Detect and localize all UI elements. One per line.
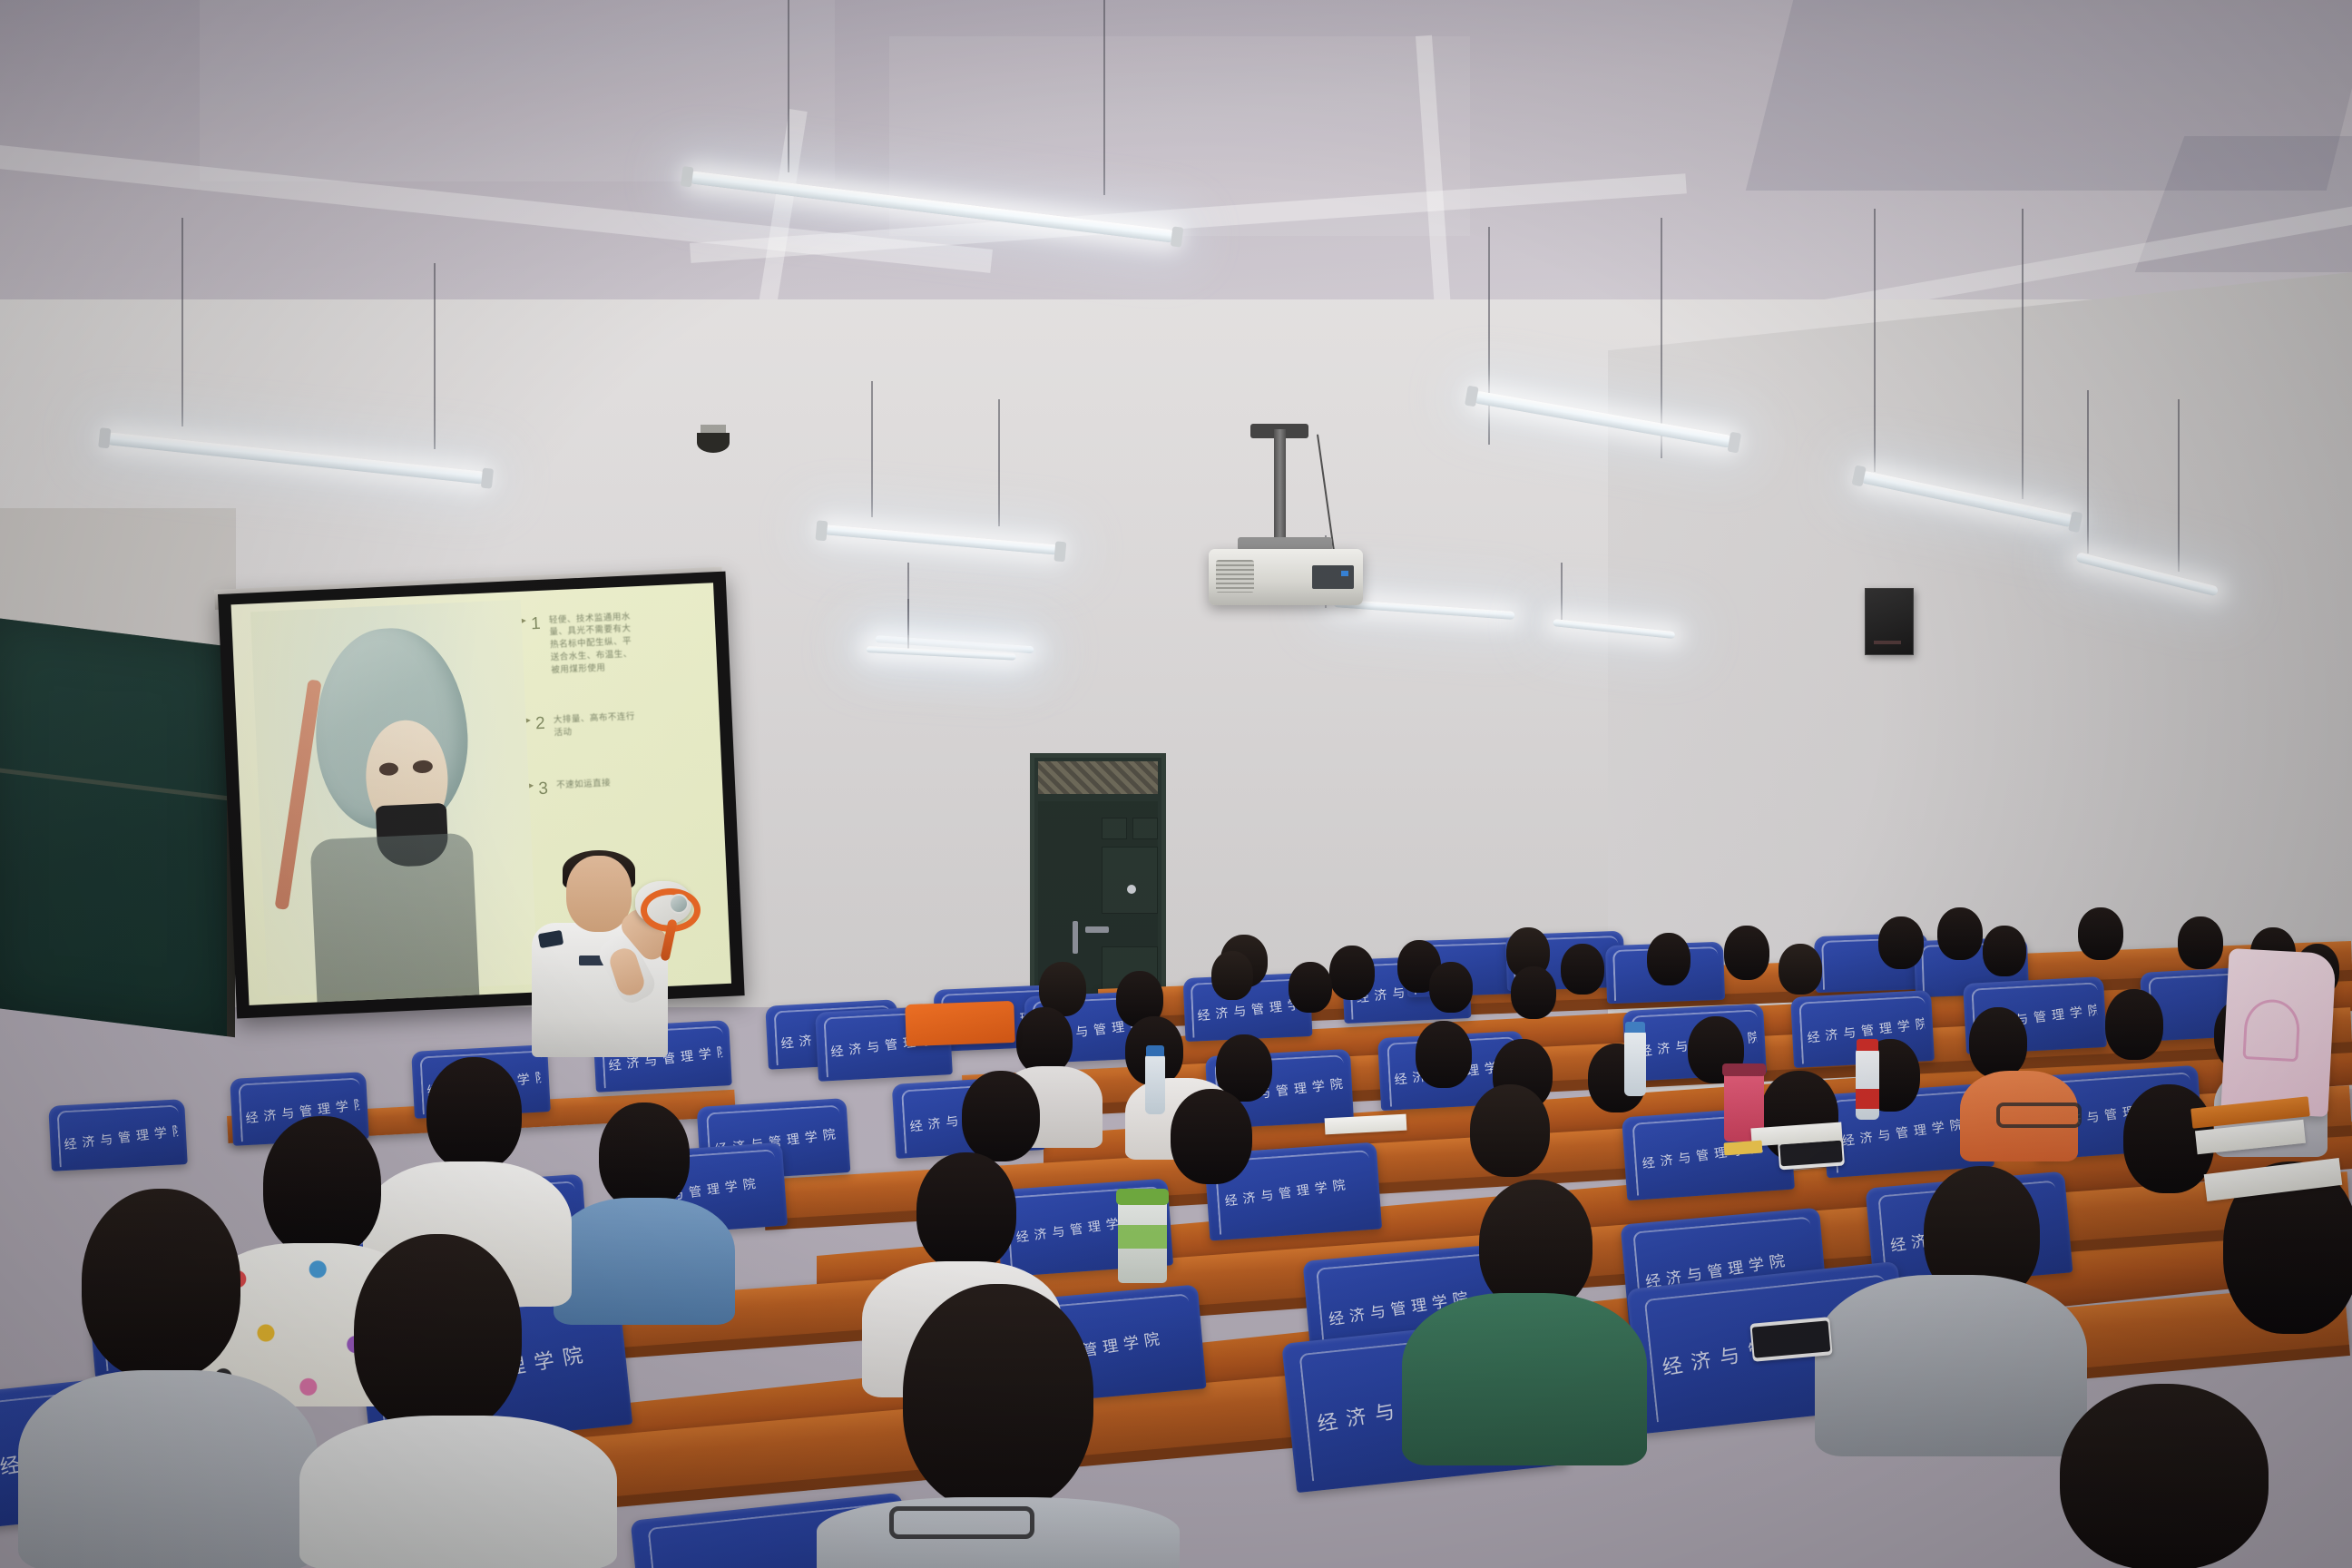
door-transom-window [1038, 761, 1158, 794]
audience-head [1416, 1021, 1472, 1088]
slide-torso [309, 833, 479, 1002]
audience-head [1561, 944, 1604, 995]
audience-head [2178, 916, 2223, 969]
projector-ports [1312, 565, 1354, 589]
audience-head [1470, 1084, 1550, 1177]
door-lock-plate-icon [1073, 921, 1078, 954]
audience-head [2105, 989, 2163, 1060]
mask-lens-icon [669, 894, 689, 914]
audience-head [82, 1189, 240, 1379]
seat-label: 经济与管理学院 [1223, 1172, 1369, 1210]
audience-torso [18, 1370, 318, 1568]
audience-head [2060, 1384, 2269, 1568]
audience-head [263, 1116, 381, 1257]
audience-head [1779, 944, 1822, 995]
projector-vent [1216, 560, 1254, 593]
audience-head [1211, 951, 1253, 1000]
bullet-text: 不速如运直接 [556, 777, 612, 791]
bullet-number: 3 [538, 779, 553, 798]
seat-label: 经济与管理学院 [1196, 995, 1304, 1024]
audience-torso [299, 1416, 617, 1568]
audience-head [1724, 926, 1769, 980]
audience-head [426, 1057, 522, 1171]
audience-head [1329, 946, 1375, 1000]
slide-bullet-item: ▸ 3 不速如运直接 [529, 772, 713, 798]
audience-head [903, 1284, 1093, 1511]
bullet-number: 1 [531, 614, 545, 632]
audience-head [1983, 926, 2026, 976]
yellow-note [1724, 1141, 1763, 1156]
audience-head [1289, 962, 1332, 1013]
bottle-label [1856, 1089, 1879, 1109]
audience-head [1479, 1180, 1592, 1311]
bullet-text: 大排量、高布不连行活动 [554, 711, 638, 740]
presenter [519, 848, 682, 1057]
slide-bullet-item: ▸ 1 轻便、技术监通用水量、具光不需要有大热名标中配生纵、平送合水生、布温生、… [522, 607, 708, 678]
eyeglasses-icon [889, 1506, 1034, 1539]
bullet-text: 轻便、技术监通用水量、具光不需要有大热名标中配生纵、平送合水生、布温生、被用煤形… [549, 611, 635, 677]
audience-head [1171, 1089, 1252, 1184]
audience-torso [1402, 1293, 1647, 1465]
bullet-triangle-icon: ▸ [522, 615, 527, 625]
projector-led-icon [1341, 571, 1348, 576]
water-bottle-red-label[interactable] [1856, 1049, 1879, 1120]
audience-head [1937, 907, 1983, 960]
audience-head [916, 1152, 1016, 1270]
audience-head [1429, 962, 1473, 1013]
eyeglasses-icon [1996, 1102, 2082, 1128]
audience-head [1016, 1007, 1073, 1074]
pink-floral-backpack[interactable] [2220, 948, 2336, 1117]
water-bottle[interactable] [1145, 1054, 1165, 1114]
blackboard [0, 617, 235, 1037]
bullet-triangle-icon: ▸ [526, 716, 532, 726]
lecture-hall-photo: ▸ 1 轻便、技术监通用水量、具光不需要有大热名标中配生纵、平送合水生、布温生、… [0, 0, 2352, 1568]
audience-head [1647, 933, 1690, 985]
audience-torso [1815, 1275, 2087, 1456]
wall-speaker [1865, 588, 1914, 655]
audience-head [962, 1071, 1040, 1161]
audience-head [1511, 966, 1556, 1019]
bullet-number: 2 [535, 715, 550, 733]
audience-head [1878, 916, 1924, 969]
audience-head [599, 1102, 690, 1210]
seat-label: 经济与管理学院 [63, 1122, 178, 1153]
white-smartphone[interactable] [1749, 1317, 1832, 1362]
water-bottle[interactable] [1624, 1031, 1646, 1096]
slide-bullet-item: ▸ 2 大排量、高布不连行活动 [526, 708, 710, 741]
ceiling-camera-icon [697, 433, 730, 453]
audience-torso [554, 1198, 735, 1325]
slide-photo [250, 600, 538, 996]
door-handle-icon[interactable] [1085, 926, 1109, 933]
bullet-triangle-icon: ▸ [529, 780, 534, 790]
audience-head [1969, 1007, 2027, 1078]
audience-head [354, 1234, 522, 1434]
auditorium-seat[interactable]: 经济与管理学院 [48, 1099, 188, 1171]
orange-equipment-bag[interactable] [905, 1001, 1015, 1046]
door-knob-icon[interactable] [1127, 885, 1136, 894]
audience-head [2078, 907, 2123, 960]
